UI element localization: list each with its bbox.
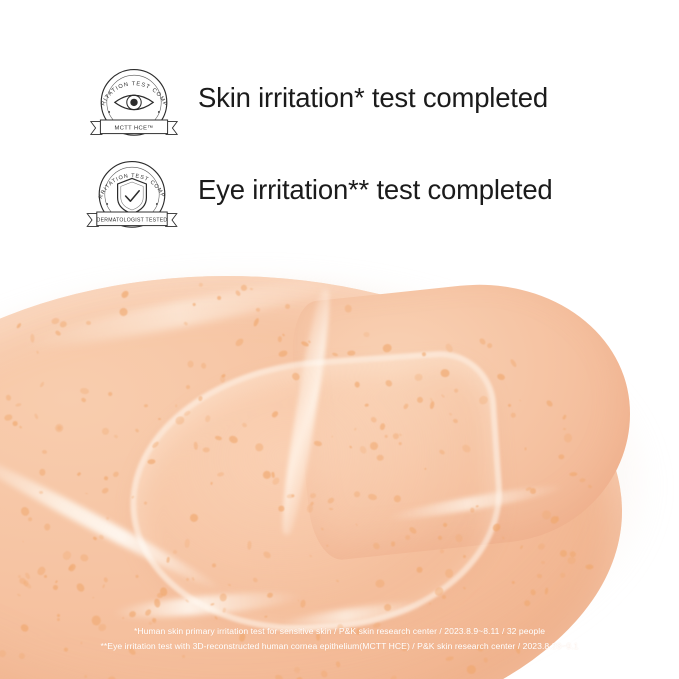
gel-speckle bbox=[439, 449, 446, 456]
gel-speckle bbox=[466, 664, 476, 674]
gel-speckle bbox=[437, 535, 443, 541]
badge-skin-irritation: SKIN IRRITATION TEST COMPLETED DERMATOLO… bbox=[84, 148, 180, 244]
gel-speckle bbox=[173, 550, 177, 554]
gel-speckle bbox=[203, 446, 210, 451]
gel-speckle bbox=[30, 334, 35, 343]
gel-speckle bbox=[496, 373, 506, 382]
gel-speckle bbox=[128, 610, 137, 619]
gel-speckle bbox=[512, 581, 515, 584]
gel-speckle bbox=[217, 295, 222, 300]
gel-speckle bbox=[144, 502, 148, 506]
gel-speckle bbox=[54, 330, 61, 337]
gel-speckle bbox=[17, 594, 21, 597]
footnotes-block: *Human skin primary irritation test for … bbox=[0, 624, 679, 654]
gel-speckle bbox=[103, 475, 108, 480]
gel-speckle bbox=[379, 423, 386, 431]
gel-speckle bbox=[250, 287, 253, 289]
gel-speckle bbox=[68, 563, 78, 573]
gel-speckle bbox=[559, 549, 567, 557]
gel-speckle bbox=[234, 290, 241, 297]
gel-speckle bbox=[282, 333, 286, 337]
gel-speckle bbox=[83, 674, 87, 678]
gel-speckle bbox=[136, 575, 139, 578]
gel-speckle bbox=[264, 615, 268, 617]
gel-speckle bbox=[530, 589, 537, 597]
gel-speckle bbox=[228, 435, 239, 445]
gel-speckle bbox=[217, 472, 225, 478]
gel-speckle bbox=[540, 561, 544, 564]
gel-speckle bbox=[50, 317, 60, 325]
gel-speckle bbox=[358, 445, 367, 455]
gel-speckle bbox=[28, 517, 33, 521]
gel-speckle bbox=[210, 602, 215, 606]
gel-speckle bbox=[369, 442, 377, 450]
gel-speckle bbox=[579, 478, 586, 483]
gel-speckle bbox=[364, 331, 370, 337]
gel-speckle bbox=[134, 428, 139, 433]
gel-speckle bbox=[154, 598, 161, 607]
badge-dot-left bbox=[108, 111, 110, 113]
gel-speckle bbox=[347, 350, 356, 355]
gel-speckle bbox=[3, 414, 13, 422]
gel-speckle bbox=[55, 581, 58, 585]
gel-speckle bbox=[85, 493, 88, 495]
gel-speckle bbox=[275, 673, 285, 679]
gel-speckle bbox=[525, 447, 527, 450]
gel-speckle bbox=[92, 536, 97, 541]
gel-speckle bbox=[385, 434, 388, 437]
gel-speckle bbox=[144, 608, 152, 616]
gel-speckle bbox=[353, 490, 360, 497]
gel-speckle bbox=[354, 428, 357, 431]
gel-speckle bbox=[332, 352, 339, 357]
gel-speckle bbox=[188, 360, 194, 367]
gel-speckle bbox=[198, 282, 203, 287]
gel-speckle bbox=[382, 603, 392, 613]
gel-speckle bbox=[511, 412, 516, 418]
gel-speckle bbox=[118, 307, 128, 317]
gel-speckle bbox=[184, 322, 188, 326]
gel-speckle bbox=[211, 563, 216, 568]
gel-speckle bbox=[417, 397, 423, 403]
gel-speckle bbox=[336, 580, 340, 583]
gel-speckle bbox=[277, 505, 284, 511]
gel-speckle bbox=[537, 542, 546, 550]
heading-skin-irritation: Skin irritation* test completed bbox=[198, 82, 548, 114]
gel-speckle bbox=[370, 416, 378, 424]
gel-speckle bbox=[39, 468, 45, 475]
gel-speckle bbox=[415, 374, 423, 382]
gel-speckle bbox=[79, 388, 89, 396]
gel-speckle bbox=[329, 508, 333, 511]
gel-speckle bbox=[326, 544, 329, 546]
gel-speckle bbox=[107, 675, 117, 679]
gel-speckle bbox=[16, 322, 22, 329]
gel-speckle bbox=[183, 410, 191, 417]
gel-speckle bbox=[98, 534, 104, 540]
badge-ribbon: DERMATOLOGIST TESTED bbox=[87, 212, 177, 226]
gel-speckle bbox=[285, 303, 291, 309]
gel-speckle bbox=[44, 575, 47, 578]
gel-speckle bbox=[307, 504, 314, 513]
gel-speckle bbox=[389, 674, 398, 679]
gel-speckle bbox=[189, 512, 200, 523]
gel-speckle bbox=[247, 541, 252, 550]
gel-speckle bbox=[331, 436, 333, 439]
gel-speckle bbox=[102, 584, 105, 588]
gel-speckle bbox=[354, 382, 360, 389]
gel-speckle bbox=[215, 435, 222, 440]
gel-speckle bbox=[204, 414, 211, 422]
gel-speckle bbox=[18, 426, 22, 430]
gel-speckle bbox=[44, 523, 50, 530]
gel-speckle bbox=[445, 343, 454, 353]
gel-speckle bbox=[185, 599, 190, 604]
gel-speckle bbox=[234, 337, 245, 348]
gel-speckle bbox=[509, 358, 517, 367]
gel-speckle bbox=[219, 593, 227, 602]
gel-speckle bbox=[144, 404, 148, 407]
gel-speckle bbox=[423, 467, 426, 470]
gel-speckle bbox=[544, 588, 549, 595]
gel-speckle bbox=[461, 444, 472, 455]
gel-speckle bbox=[176, 404, 178, 407]
badge-dot-left bbox=[106, 203, 108, 205]
gel-speckle bbox=[272, 410, 280, 418]
gel-speckle bbox=[556, 516, 559, 521]
gel-speckle bbox=[79, 553, 89, 562]
footnote-line-2: **Eye irritation test with 3D-reconstruc… bbox=[0, 639, 679, 654]
gel-speckle bbox=[75, 582, 86, 593]
gel-speckle bbox=[375, 580, 384, 588]
gel-speckle bbox=[184, 538, 189, 547]
gel-speckle bbox=[421, 351, 426, 356]
gel-speckle bbox=[563, 428, 566, 431]
footnote-line-1: *Human skin primary irritation test for … bbox=[0, 624, 679, 639]
gel-speckle bbox=[344, 304, 353, 313]
gel-speckle bbox=[486, 342, 492, 348]
gel-speckle bbox=[108, 392, 113, 397]
gel-speckle bbox=[19, 506, 30, 518]
gel-speckle bbox=[545, 400, 553, 409]
gel-speckle bbox=[559, 572, 566, 579]
gel-speckle bbox=[308, 340, 311, 344]
badge-ribbon-text: DERMATOLOGIST TESTED bbox=[97, 217, 168, 223]
gel-speckle bbox=[365, 404, 369, 407]
gel-speckle bbox=[321, 527, 324, 530]
gel-speckle bbox=[377, 455, 384, 461]
gel-speckle bbox=[103, 577, 109, 583]
gel-speckle bbox=[266, 592, 273, 599]
gel-speckle bbox=[367, 493, 377, 501]
gel-speckle bbox=[152, 441, 160, 449]
heading-eye-irritation: Eye irritation** test completed bbox=[198, 174, 553, 206]
gel-speckle bbox=[291, 372, 301, 382]
gel-speckle bbox=[372, 541, 381, 550]
gel-speckle bbox=[198, 395, 203, 401]
badge-dot-right bbox=[158, 111, 160, 113]
gel-speckle bbox=[470, 508, 475, 513]
gel-speckle bbox=[309, 555, 313, 559]
gel-speckle bbox=[240, 283, 248, 291]
gel-speckle bbox=[588, 484, 593, 488]
gel-speckle bbox=[320, 669, 328, 678]
gel-speckle bbox=[335, 661, 341, 668]
gel-speckle bbox=[194, 442, 198, 450]
badge-ribbon-text: MCTT HCE™ bbox=[115, 125, 154, 131]
gel-speckle bbox=[35, 351, 38, 354]
gel-speckle bbox=[562, 414, 567, 420]
gel-speckle bbox=[569, 472, 578, 477]
gel-speckle bbox=[462, 554, 466, 558]
gel-speckle bbox=[200, 362, 207, 369]
gel-speckle bbox=[404, 534, 411, 541]
gel-speckle bbox=[297, 599, 299, 602]
gel-speckle bbox=[453, 388, 459, 394]
gel-speckle bbox=[522, 599, 531, 608]
gel-speckle bbox=[33, 413, 39, 420]
gel-speckle bbox=[174, 415, 185, 426]
gel-speckle bbox=[417, 567, 423, 573]
gel-speckle bbox=[381, 343, 392, 354]
gel-speckle bbox=[185, 384, 191, 389]
gel-speckle bbox=[159, 586, 168, 596]
gel-speckle bbox=[445, 568, 454, 578]
gel-speckle bbox=[210, 482, 213, 485]
gel-speckle bbox=[92, 597, 94, 598]
gel-speckle bbox=[385, 378, 394, 387]
gel-speckle bbox=[252, 577, 258, 583]
gel-speckle bbox=[408, 526, 417, 535]
gel-speckle bbox=[399, 433, 403, 436]
gel-speckle bbox=[59, 320, 68, 329]
gel-speckle bbox=[508, 403, 512, 407]
gel-speckle bbox=[254, 442, 264, 453]
gel-speckle bbox=[429, 603, 432, 606]
gel-speckle bbox=[57, 614, 60, 617]
dermatologist-badge-graphic: SKIN IRRITATION TEST COMPLETED DERMATOLO… bbox=[84, 148, 180, 244]
gel-speckle bbox=[62, 549, 74, 561]
gel-speckle bbox=[223, 608, 227, 613]
gel-speckle bbox=[558, 454, 564, 459]
gel-speckle bbox=[113, 470, 121, 477]
gel-speckle bbox=[442, 522, 448, 528]
gel-speckle bbox=[391, 541, 395, 546]
gel-speckle bbox=[442, 594, 446, 598]
badge-eye-irritation: EYE IRRITATION TEST COMPLETED MCTT HCE™ bbox=[86, 56, 182, 152]
gel-speckle bbox=[326, 496, 335, 504]
gel-speckle bbox=[537, 574, 542, 578]
gel-speckle bbox=[146, 459, 155, 465]
product-claims-panel: EYE IRRITATION TEST COMPLETED MCTT HCE™ bbox=[0, 0, 679, 679]
gel-speckle bbox=[446, 656, 454, 661]
gel-speckle bbox=[483, 657, 488, 663]
gel-speckle bbox=[440, 369, 450, 378]
gel-speckle bbox=[12, 421, 17, 426]
gel-speckle bbox=[186, 577, 190, 581]
gel-speckle bbox=[463, 587, 466, 590]
gel-speckle bbox=[277, 336, 281, 342]
gel-speckle bbox=[403, 402, 410, 409]
gel-speckle bbox=[158, 418, 161, 421]
gel-speckle bbox=[166, 557, 170, 563]
gel-speckle bbox=[262, 550, 272, 560]
gel-speckle bbox=[475, 505, 478, 508]
gel-speckle bbox=[228, 583, 232, 586]
gel-speckle bbox=[130, 496, 134, 500]
badge-ribbon: MCTT HCE™ bbox=[91, 120, 177, 134]
gel-speckle bbox=[101, 487, 109, 495]
gel-speckle bbox=[191, 577, 194, 582]
gel-speckle bbox=[393, 495, 401, 503]
eye-badge-graphic: EYE IRRITATION TEST COMPLETED MCTT HCE™ bbox=[86, 56, 182, 152]
badge-dot-right bbox=[156, 203, 158, 205]
gel-speckle bbox=[57, 618, 60, 621]
gel-speckle bbox=[477, 394, 489, 406]
gel-speckle bbox=[502, 536, 505, 539]
gel-speckle bbox=[279, 349, 289, 357]
gel-speckle bbox=[15, 402, 22, 407]
gel-speckle bbox=[585, 564, 593, 569]
gel-speckle bbox=[39, 491, 43, 494]
gel-speckle bbox=[355, 523, 358, 526]
gel-speckle bbox=[448, 412, 451, 415]
gel-speckle bbox=[106, 516, 110, 520]
gel-speckle bbox=[122, 616, 125, 619]
gel-speckle bbox=[399, 442, 402, 445]
gel-speckle bbox=[241, 422, 247, 428]
gel-speckle bbox=[39, 381, 45, 388]
gel-speckle bbox=[478, 337, 486, 346]
gel-speckle bbox=[102, 428, 110, 436]
gel-speckle bbox=[294, 667, 302, 675]
gel-speckle bbox=[300, 600, 306, 609]
gel-speckle bbox=[349, 445, 353, 449]
gel-speckle bbox=[314, 440, 323, 446]
gel-speckle bbox=[287, 493, 294, 498]
gel-speckle bbox=[113, 434, 118, 439]
gel-speckle bbox=[193, 303, 196, 306]
gel-speckle bbox=[80, 397, 87, 404]
gel-speckle bbox=[77, 472, 82, 477]
gel-speckle bbox=[439, 548, 445, 554]
gel-speckle bbox=[492, 522, 502, 532]
gel-speckle bbox=[309, 492, 316, 499]
gel-speckle bbox=[253, 317, 260, 326]
gel-speckle bbox=[5, 394, 12, 401]
gel-speckle bbox=[42, 449, 48, 454]
gel-speckle bbox=[86, 320, 92, 325]
gel-speckle bbox=[271, 476, 281, 486]
gel-speckle bbox=[52, 584, 58, 590]
gel-speckle bbox=[214, 616, 218, 620]
gel-speckle bbox=[564, 434, 572, 443]
gel-speckle bbox=[519, 399, 522, 402]
gel-speckle bbox=[452, 418, 458, 423]
gel-speckle bbox=[181, 655, 185, 659]
gel-speckle bbox=[120, 289, 130, 299]
gel-speckle bbox=[519, 545, 523, 550]
gel-speckle bbox=[22, 541, 24, 543]
gel-speckle bbox=[441, 394, 445, 398]
gel-speckle bbox=[455, 533, 464, 543]
